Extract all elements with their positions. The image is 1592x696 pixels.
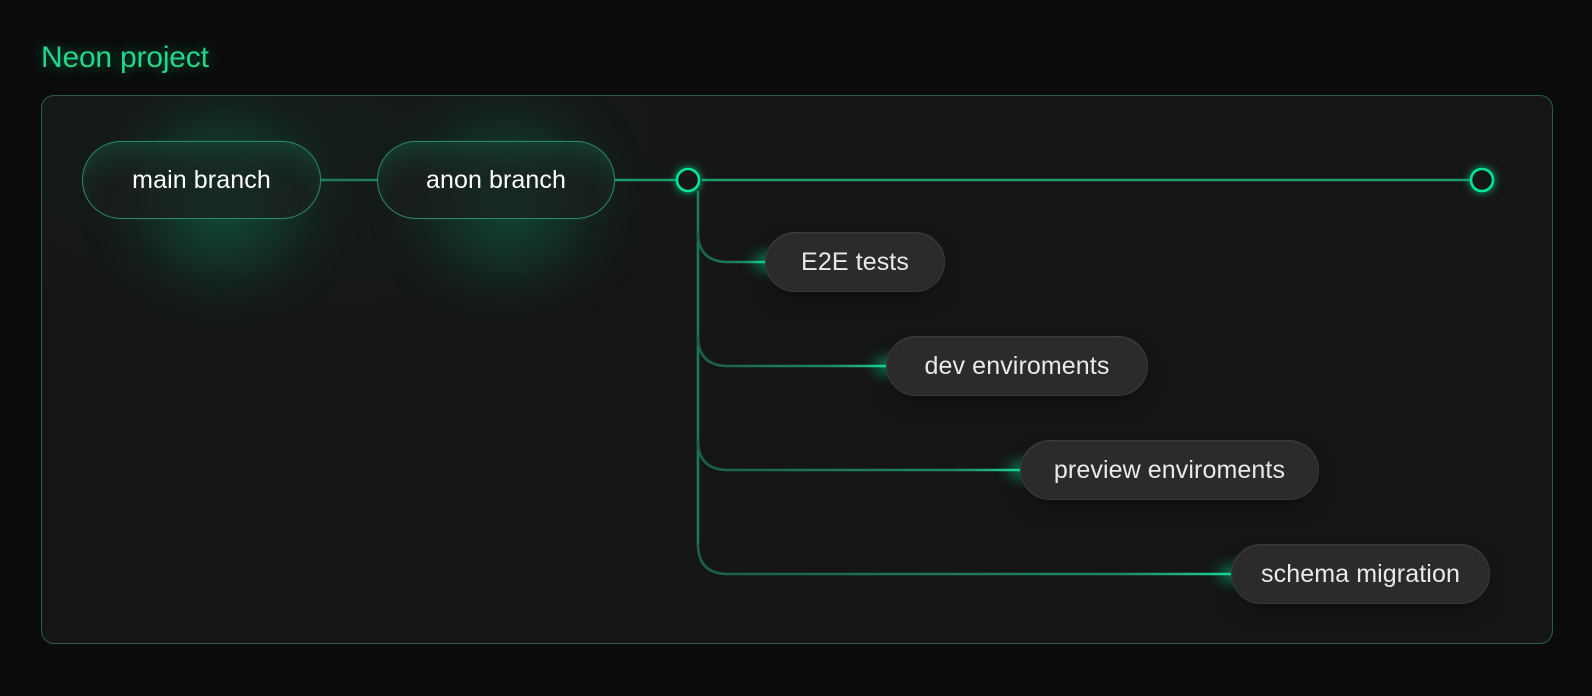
branch-node-label: preview enviroments bbox=[1054, 456, 1285, 485]
diagram-container: main branch anon branch E2E tests dev en… bbox=[41, 95, 1553, 644]
wire-to-schema-migration bbox=[698, 544, 1231, 574]
branch-diagram-screen: Neon project bbox=[0, 0, 1592, 696]
branch-node-dev-enviroments[interactable]: dev enviroments bbox=[886, 336, 1148, 396]
wire-to-e2e-tests bbox=[698, 232, 765, 262]
branch-node-label: E2E tests bbox=[801, 248, 909, 277]
branch-node-label: anon branch bbox=[426, 166, 566, 195]
branch-node-main-branch[interactable]: main branch bbox=[82, 141, 321, 219]
branch-node-e2e-tests[interactable]: E2E tests bbox=[765, 232, 945, 292]
branch-node-label: schema migration bbox=[1261, 560, 1460, 589]
branch-node-schema-migration[interactable]: schema migration bbox=[1231, 544, 1490, 604]
wire-to-dev-enviroments bbox=[698, 336, 886, 366]
branch-node-anon-branch[interactable]: anon branch bbox=[377, 141, 615, 219]
branch-node-label: main branch bbox=[132, 166, 271, 195]
branch-node-preview-enviroments[interactable]: preview enviroments bbox=[1020, 440, 1319, 500]
timeline-end-node[interactable] bbox=[1471, 169, 1493, 191]
branch-point-node[interactable] bbox=[677, 169, 699, 191]
wire-to-preview-enviroments bbox=[698, 440, 1020, 470]
page-title: Neon project bbox=[41, 38, 209, 78]
branch-node-label: dev enviroments bbox=[925, 352, 1110, 381]
